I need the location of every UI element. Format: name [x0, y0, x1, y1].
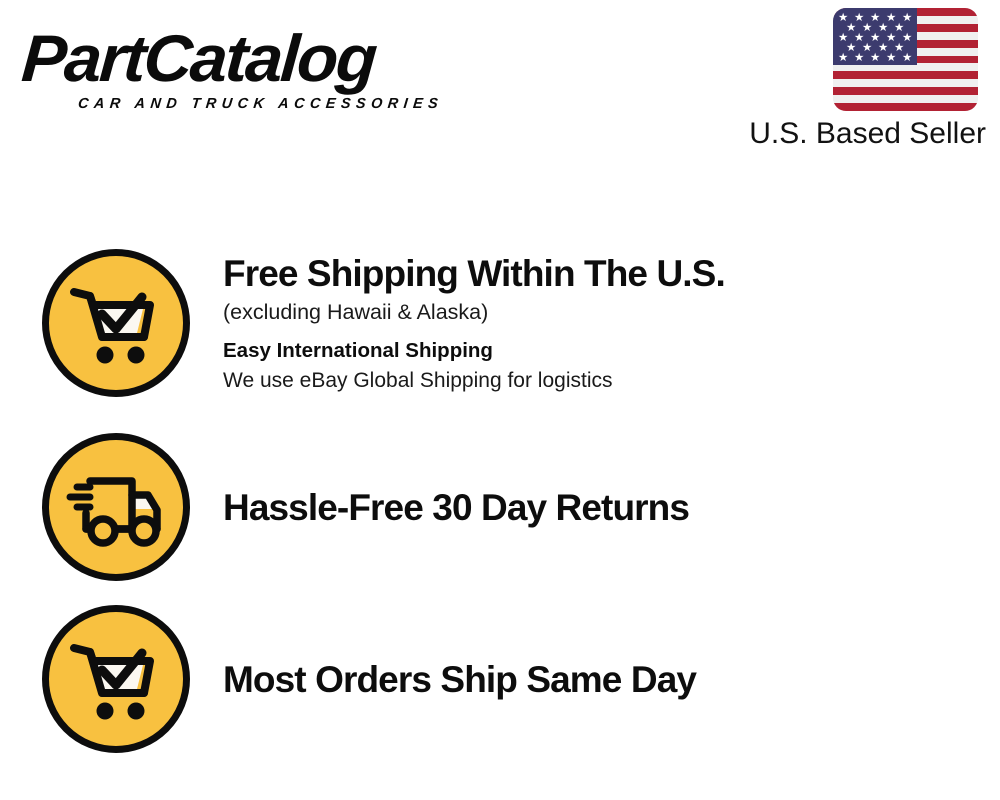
seller-badge: ★ ★ ★ ★ ★ ★ ★ ★ ★ ★ ★ ★ ★ ★ ★ ★ ★ — [700, 8, 990, 153]
brand-tagline: CAR AND TRUCK ACCESSORIES — [77, 96, 444, 112]
shopping-cart-check-icon — [42, 605, 190, 753]
us-flag-icon: ★ ★ ★ ★ ★ ★ ★ ★ ★ ★ ★ ★ ★ ★ ★ ★ ★ — [833, 8, 978, 111]
header: PartCatalog CAR AND TRUCK ACCESSORIES — [0, 0, 1000, 170]
feature-strong-line: Easy International Shipping — [223, 336, 980, 365]
flag-stripe — [833, 103, 978, 111]
shopping-cart-check-glyph — [60, 267, 172, 379]
seller-badge-label: U.S. Based Seller — [700, 115, 990, 153]
feature-subtitle: (excluding Hawaii & Alaska) — [223, 298, 980, 327]
seller-banner-page: PartCatalog CAR AND TRUCK ACCESSORIES — [0, 0, 1000, 800]
feature-row: Free Shipping Within The U.S. (excluding… — [0, 225, 1000, 421]
feature-title: Free Shipping Within The U.S. — [223, 251, 980, 296]
flag-stripe — [833, 79, 978, 87]
brand-wordmark: PartCatalog — [19, 22, 504, 94]
flag-stripe — [833, 87, 978, 95]
flag-stripe — [833, 71, 978, 79]
delivery-truck-icon — [42, 433, 190, 581]
delivery-truck-glyph — [60, 451, 172, 563]
flag-stripe — [833, 95, 978, 103]
feature-title: Hassle-Free 30 Day Returns — [223, 485, 980, 530]
feature-text: Free Shipping Within The U.S. (excluding… — [223, 251, 1000, 395]
flag-canton: ★ ★ ★ ★ ★ ★ ★ ★ ★ ★ ★ ★ ★ ★ ★ ★ ★ — [833, 8, 917, 65]
feature-note: We use eBay Global Shipping for logistic… — [223, 366, 980, 395]
feature-row: Most Orders Ship Same Day — [0, 593, 1000, 765]
shopping-cart-check-glyph — [60, 623, 172, 735]
feature-title: Most Orders Ship Same Day — [223, 657, 980, 702]
feature-row: Hassle-Free 30 Day Returns — [0, 421, 1000, 593]
partcatalog-logo[interactable]: PartCatalog CAR AND TRUCK ACCESSORIES — [22, 22, 492, 117]
feature-text: Hassle-Free 30 Day Returns — [223, 485, 1000, 530]
shopping-cart-check-icon — [42, 249, 190, 397]
feature-text: Most Orders Ship Same Day — [223, 657, 1000, 702]
